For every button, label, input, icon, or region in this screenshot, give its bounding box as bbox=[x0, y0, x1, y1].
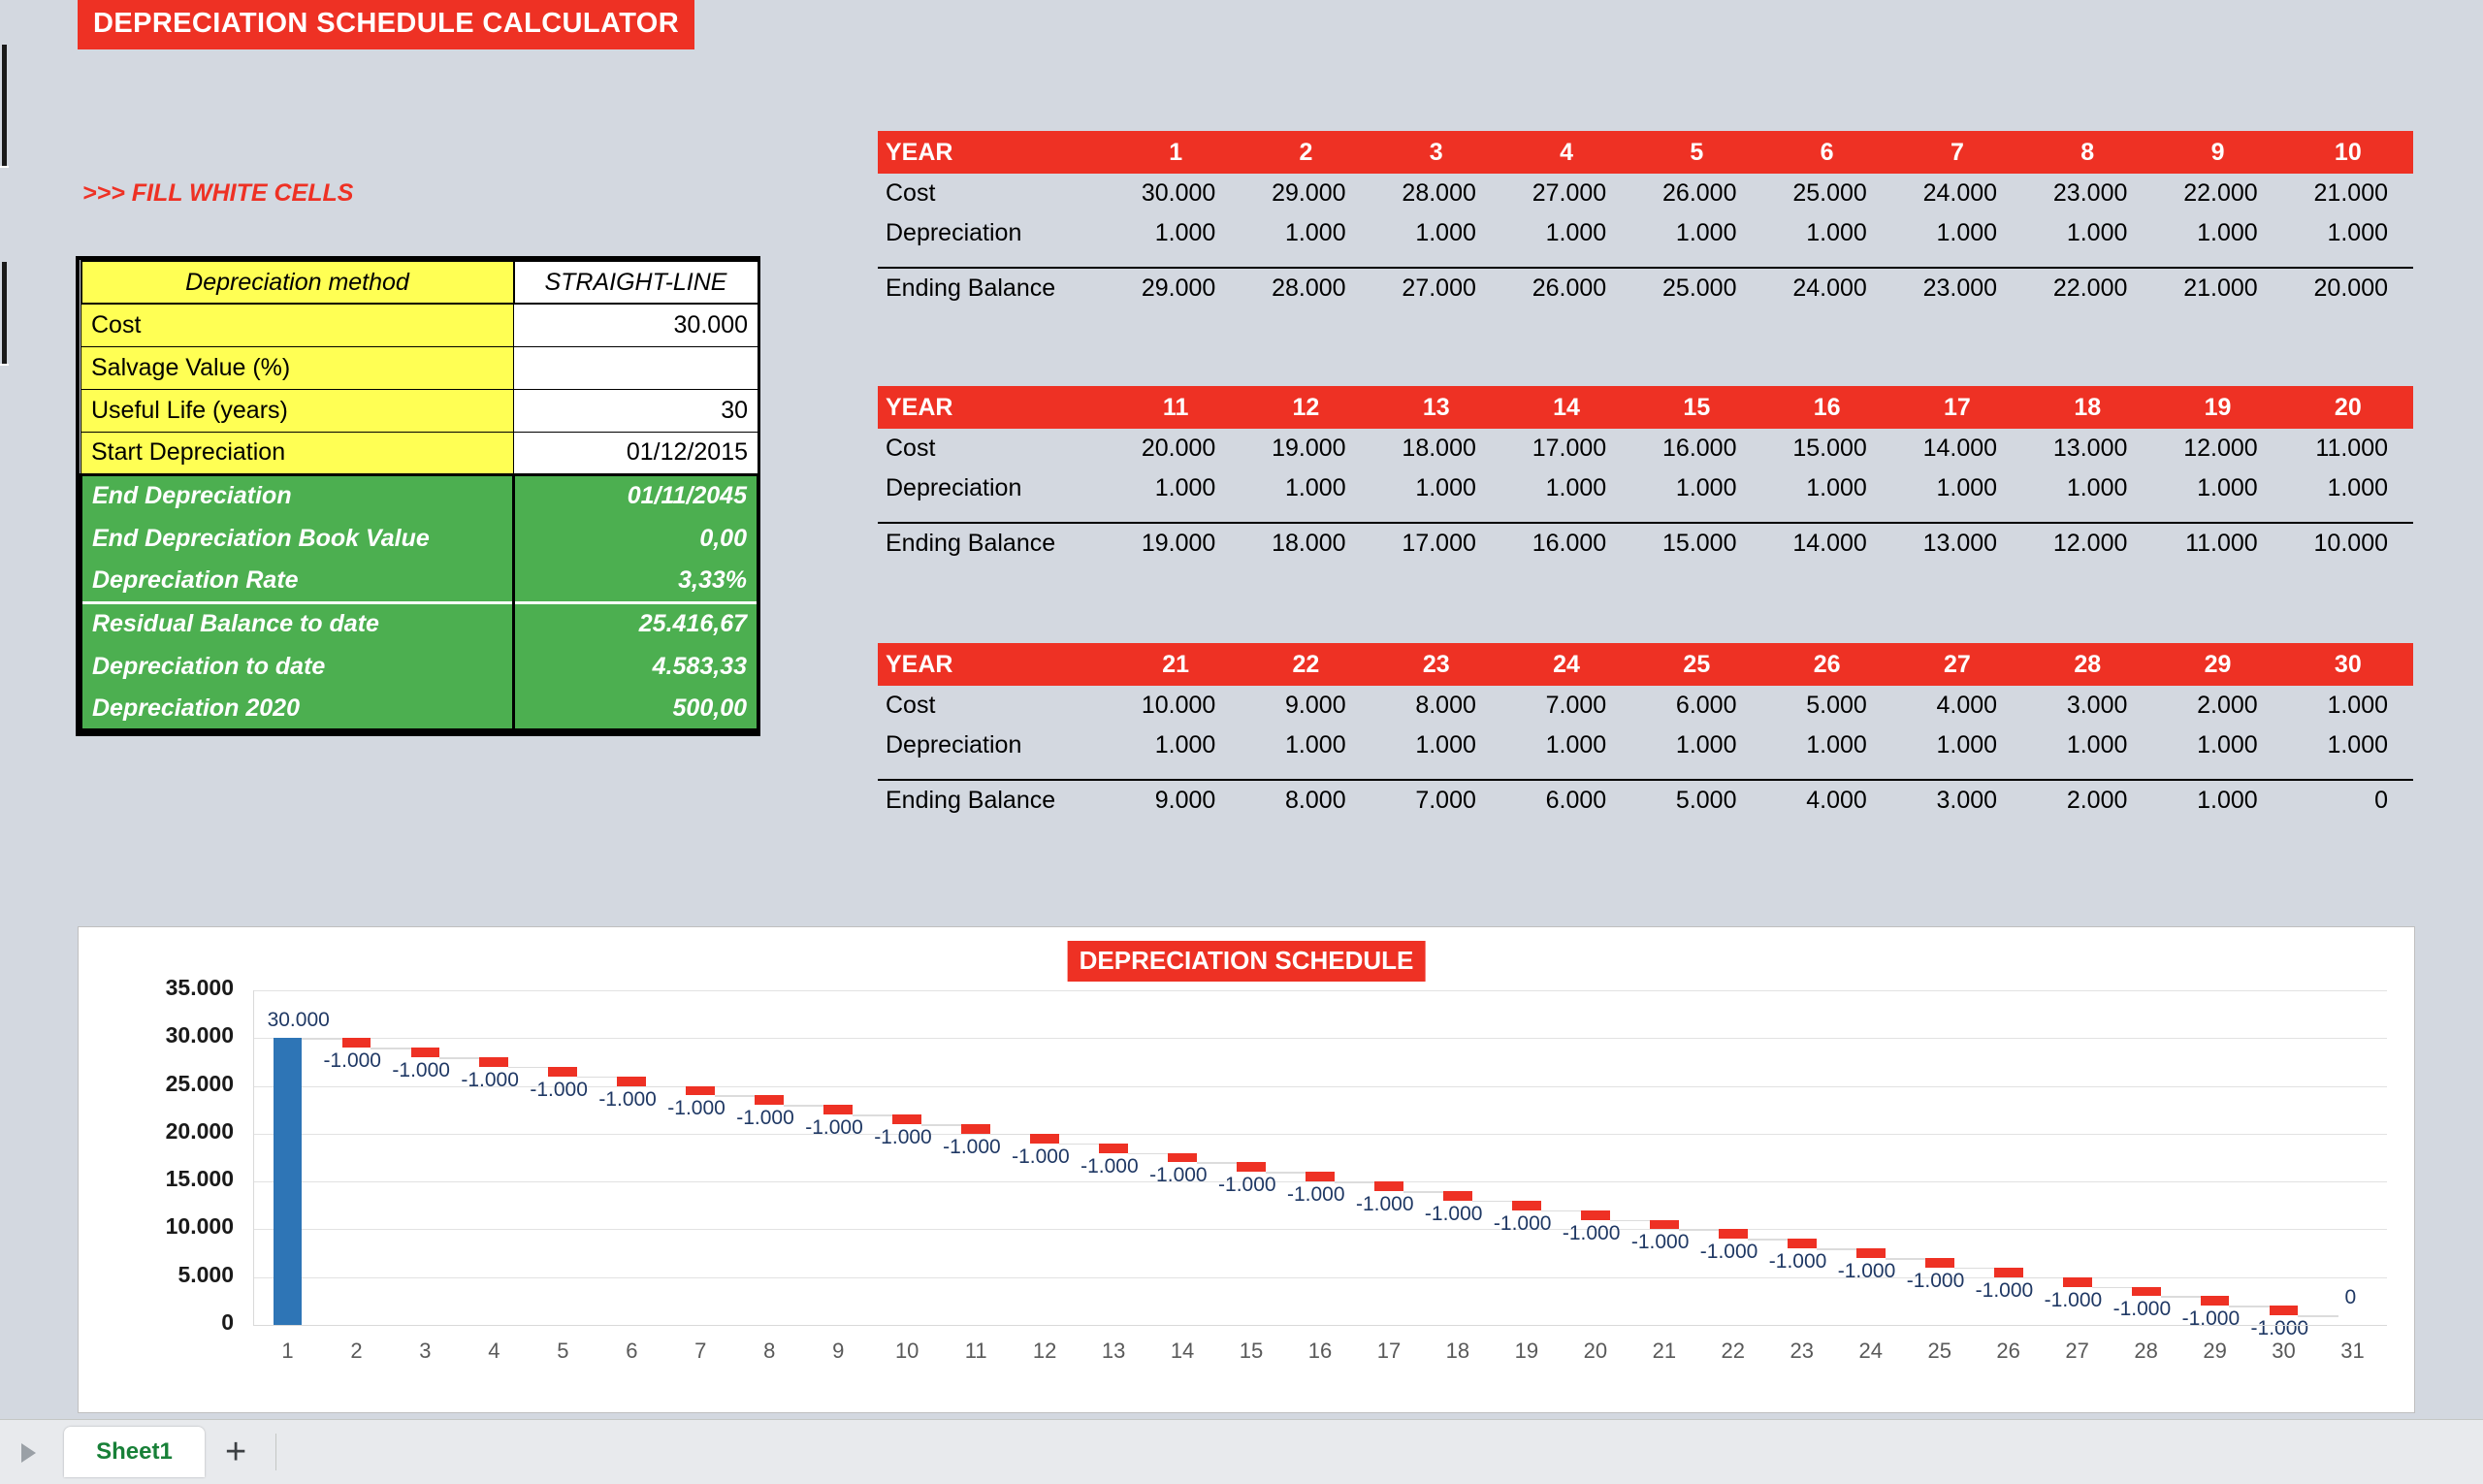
cell-ending-balance-y25: 5.000 bbox=[1631, 780, 1761, 821]
data-label-20: -1.000 bbox=[1563, 1222, 1621, 1245]
cell-depreciation-y3: 1.000 bbox=[1371, 213, 1501, 253]
schedule-header-row: YEAR12345678910 bbox=[878, 131, 2413, 174]
x-axis-tick-4: 4 bbox=[469, 1339, 518, 1364]
table-row: Cost20.00019.00018.00017.00016.00015.000… bbox=[878, 429, 2413, 468]
data-label-3: -1.000 bbox=[392, 1059, 450, 1082]
end-depreciation-book-value: 0,00 bbox=[514, 517, 758, 560]
x-axis-tick-25: 25 bbox=[1916, 1339, 1964, 1364]
cell-ending-balance-y26: 4.000 bbox=[1761, 780, 1891, 821]
waterfall-bar-decrease-23 bbox=[1788, 1239, 1817, 1248]
cell-depreciation-y15: 1.000 bbox=[1631, 468, 1761, 508]
row-label-ending-balance: Ending Balance bbox=[878, 523, 1111, 564]
row-label-depreciation: Depreciation bbox=[878, 468, 1111, 508]
cell-cost-y22: 9.000 bbox=[1241, 686, 1370, 726]
cell-depreciation-y24: 1.000 bbox=[1501, 726, 1631, 765]
data-label-11: -1.000 bbox=[943, 1136, 1001, 1159]
table-row: Depreciation1.0001.0001.0001.0001.0001.0… bbox=[878, 213, 2413, 253]
year-header-label: YEAR bbox=[878, 643, 1111, 686]
waterfall-bar-decrease-17 bbox=[1374, 1181, 1403, 1191]
cell-depreciation-y18: 1.000 bbox=[2022, 468, 2152, 508]
waterfall-bar-decrease-10 bbox=[892, 1114, 921, 1124]
cell-ending-balance-y29: 1.000 bbox=[2152, 780, 2282, 821]
waterfall-bar-decrease-6 bbox=[617, 1077, 646, 1086]
year-header-25: 25 bbox=[1631, 643, 1761, 686]
data-label-23: -1.000 bbox=[1769, 1250, 1827, 1274]
cell-cost-y9: 22.000 bbox=[2152, 174, 2282, 213]
depreciation-method-label: Depreciation method bbox=[81, 261, 514, 304]
cell-ending-balance-y23: 7.000 bbox=[1371, 780, 1501, 821]
table-row: Depreciation1.0001.0001.0001.0001.0001.0… bbox=[878, 468, 2413, 508]
cell-ending-balance-y21: 9.000 bbox=[1111, 780, 1241, 821]
waterfall-bar-decrease-8 bbox=[755, 1095, 784, 1105]
data-label-26: -1.000 bbox=[1976, 1279, 2034, 1303]
year-header-24: 24 bbox=[1501, 643, 1631, 686]
depreciation-to-date-value: 4.583,33 bbox=[514, 645, 758, 688]
depreciation-year-label: Depreciation 2020 bbox=[81, 688, 514, 730]
cell-cost-y29: 2.000 bbox=[2152, 686, 2282, 726]
cell-cost-y27: 4.000 bbox=[1892, 686, 2022, 726]
year-header-13: 13 bbox=[1371, 386, 1501, 429]
x-axis-tick-24: 24 bbox=[1847, 1339, 1895, 1364]
table-row: Start Depreciation 01/12/2015 bbox=[81, 432, 758, 474]
year-header-1: 1 bbox=[1111, 131, 1241, 174]
waterfall-bar-decrease-5 bbox=[548, 1067, 577, 1077]
year-header-10: 10 bbox=[2283, 131, 2413, 174]
sheet-tab-sheet1[interactable]: Sheet1 bbox=[64, 1427, 205, 1477]
data-label-17: -1.000 bbox=[1356, 1193, 1414, 1216]
waterfall-bar-decrease-30 bbox=[2270, 1306, 2299, 1315]
chart-plot-area: 35.00030.00025.00020.00015.00010.0005.00… bbox=[253, 990, 2387, 1325]
sheet-tab-bar: Sheet1 + bbox=[0, 1419, 2483, 1484]
cell-depreciation-y2: 1.000 bbox=[1241, 213, 1370, 253]
table-row: End Depreciation 01/11/2045 bbox=[81, 474, 758, 517]
data-label-19: -1.000 bbox=[1494, 1212, 1552, 1236]
year-header-30: 30 bbox=[2283, 643, 2413, 686]
cell-depreciation-y8: 1.000 bbox=[2022, 213, 2152, 253]
cell-ending-balance-y3: 27.000 bbox=[1371, 268, 1501, 308]
gridline bbox=[253, 990, 2387, 991]
cell-ending-balance-y28: 2.000 bbox=[2022, 780, 2152, 821]
x-axis-tick-15: 15 bbox=[1227, 1339, 1275, 1364]
cell-ending-balance-y16: 14.000 bbox=[1761, 523, 1891, 564]
table-row: Depreciation to date 4.583,33 bbox=[81, 645, 758, 688]
data-label-15: -1.000 bbox=[1218, 1174, 1276, 1197]
cell-cost-y1: 30.000 bbox=[1111, 174, 1241, 213]
spacer-row bbox=[878, 765, 2413, 780]
row-edge-rule-2 bbox=[0, 364, 9, 366]
data-label-12: -1.000 bbox=[1012, 1145, 1070, 1169]
cell-cost-y26: 5.000 bbox=[1761, 686, 1891, 726]
end-depreciation-label: End Depreciation bbox=[81, 474, 514, 517]
year-header-2: 2 bbox=[1241, 131, 1370, 174]
cell-cost-y16: 15.000 bbox=[1761, 429, 1891, 468]
cell-depreciation-y13: 1.000 bbox=[1371, 468, 1501, 508]
schedule-table-2: YEAR11121314151617181920Cost20.00019.000… bbox=[878, 386, 2413, 564]
waterfall-bar-decrease-27 bbox=[2063, 1277, 2092, 1287]
start-depreciation-label: Start Depreciation bbox=[81, 432, 514, 474]
cell-depreciation-y16: 1.000 bbox=[1761, 468, 1891, 508]
data-label-14: -1.000 bbox=[1149, 1164, 1208, 1187]
data-label-27: -1.000 bbox=[2045, 1289, 2103, 1312]
waterfall-bar-decrease-11 bbox=[961, 1124, 990, 1134]
table-row: Cost30.00029.00028.00027.00026.00025.000… bbox=[878, 174, 2413, 213]
x-axis-tick-1: 1 bbox=[263, 1339, 311, 1364]
x-axis-tick-30: 30 bbox=[2260, 1339, 2308, 1364]
cell-depreciation-y28: 1.000 bbox=[2022, 726, 2152, 765]
year-header-14: 14 bbox=[1501, 386, 1631, 429]
table-row: Depreciation1.0001.0001.0001.0001.0001.0… bbox=[878, 726, 2413, 765]
cell-cost-y2: 29.000 bbox=[1241, 174, 1370, 213]
schedule-header-row: YEAR21222324252627282930 bbox=[878, 643, 2413, 686]
year-header-20: 20 bbox=[2283, 386, 2413, 429]
y-axis-tick-label: 5.000 bbox=[117, 1262, 234, 1288]
cell-cost-y14: 17.000 bbox=[1501, 429, 1631, 468]
table-row: Ending Balance29.00028.00027.00026.00025… bbox=[878, 268, 2413, 308]
y-axis-tick-label: 35.000 bbox=[117, 975, 234, 1001]
data-label-25: -1.000 bbox=[1907, 1270, 1965, 1293]
data-label-7: -1.000 bbox=[667, 1097, 726, 1120]
play-right-icon[interactable] bbox=[21, 1443, 36, 1463]
input-header-row: Depreciation method STRAIGHT-LINE bbox=[81, 261, 758, 304]
table-row: Depreciation 2020 500,00 bbox=[81, 688, 758, 730]
waterfall-bar-decrease-7 bbox=[686, 1086, 715, 1096]
x-axis-tick-6: 6 bbox=[607, 1339, 656, 1364]
depreciation-year-value: 500,00 bbox=[514, 688, 758, 730]
cell-depreciation-y5: 1.000 bbox=[1631, 213, 1761, 253]
cell-depreciation-y19: 1.000 bbox=[2152, 468, 2282, 508]
x-axis-tick-23: 23 bbox=[1778, 1339, 1826, 1364]
gridline bbox=[253, 1181, 2387, 1182]
table-row: Residual Balance to date 25.416,67 bbox=[81, 602, 758, 645]
cell-depreciation-y27: 1.000 bbox=[1892, 726, 2022, 765]
cell-cost-y4: 27.000 bbox=[1501, 174, 1631, 213]
year-header-19: 19 bbox=[2152, 386, 2282, 429]
cell-depreciation-y29: 1.000 bbox=[2152, 726, 2282, 765]
cell-depreciation-y22: 1.000 bbox=[1241, 726, 1370, 765]
row-label-depreciation: Depreciation bbox=[878, 213, 1111, 253]
data-label-16: -1.000 bbox=[1287, 1183, 1345, 1207]
cell-cost-y24: 7.000 bbox=[1501, 686, 1631, 726]
waterfall-connector bbox=[302, 1038, 341, 1040]
year-header-7: 7 bbox=[1892, 131, 2022, 174]
data-label-4: -1.000 bbox=[461, 1069, 519, 1092]
y-axis-tick-label: 25.000 bbox=[117, 1071, 234, 1097]
y-axis-line bbox=[253, 990, 254, 1325]
cell-cost-y17: 14.000 bbox=[1892, 429, 2022, 468]
table-row: Ending Balance19.00018.00017.00016.00015… bbox=[878, 523, 2413, 564]
cell-depreciation-y21: 1.000 bbox=[1111, 726, 1241, 765]
year-header-21: 21 bbox=[1111, 643, 1241, 686]
cell-ending-balance-y1: 29.000 bbox=[1111, 268, 1241, 308]
cell-cost-y11: 20.000 bbox=[1111, 429, 1241, 468]
waterfall-bar-decrease-28 bbox=[2132, 1287, 2161, 1297]
waterfall-bar-decrease-24 bbox=[1856, 1248, 1886, 1258]
year-header-15: 15 bbox=[1631, 386, 1761, 429]
x-axis-tick-20: 20 bbox=[1571, 1339, 1620, 1364]
gridline bbox=[253, 1229, 2387, 1230]
x-axis-tick-13: 13 bbox=[1089, 1339, 1138, 1364]
table-row: Ending Balance9.0008.0007.0006.0005.0004… bbox=[878, 780, 2413, 821]
x-axis-tick-12: 12 bbox=[1020, 1339, 1069, 1364]
cell-depreciation-y12: 1.000 bbox=[1241, 468, 1370, 508]
x-axis-tick-8: 8 bbox=[745, 1339, 793, 1364]
cell-cost-y19: 12.000 bbox=[2152, 429, 2282, 468]
data-label-6: -1.000 bbox=[598, 1088, 657, 1112]
cell-cost-y25: 6.000 bbox=[1631, 686, 1761, 726]
year-header-label: YEAR bbox=[878, 131, 1111, 174]
cell-cost-y20: 11.000 bbox=[2283, 429, 2413, 468]
start-depreciation-input[interactable]: 01/12/2015 bbox=[514, 432, 758, 474]
salvage-value-input[interactable] bbox=[514, 346, 758, 389]
row-label-cost: Cost bbox=[878, 686, 1111, 726]
cell-depreciation-y20: 1.000 bbox=[2283, 468, 2413, 508]
table-row: Cost10.0009.0008.0007.0006.0005.0004.000… bbox=[878, 686, 2413, 726]
cell-ending-balance-y5: 25.000 bbox=[1631, 268, 1761, 308]
waterfall-bar-decrease-29 bbox=[2201, 1296, 2230, 1306]
data-label-10: -1.000 bbox=[874, 1126, 932, 1149]
cell-cost-y8: 23.000 bbox=[2022, 174, 2152, 213]
cell-cost-y15: 16.000 bbox=[1631, 429, 1761, 468]
cell-depreciation-y7: 1.000 bbox=[1892, 213, 2022, 253]
cell-cost-y28: 3.000 bbox=[2022, 686, 2152, 726]
cell-ending-balance-y11: 19.000 bbox=[1111, 523, 1241, 564]
cell-cost-y10: 21.000 bbox=[2283, 174, 2413, 213]
row-label-cost: Cost bbox=[878, 429, 1111, 468]
waterfall-bar-total-1 bbox=[274, 1038, 303, 1325]
row-edge-mark-mid bbox=[2, 262, 7, 364]
x-axis-tick-7: 7 bbox=[676, 1339, 725, 1364]
waterfall-bar-decrease-16 bbox=[1306, 1172, 1335, 1181]
x-axis-tick-29: 29 bbox=[2191, 1339, 2240, 1364]
chart-title: DEPRECIATION SCHEDULE bbox=[1068, 941, 1426, 982]
depreciation-rate-label: Depreciation Rate bbox=[81, 560, 514, 602]
cell-ending-balance-y19: 11.000 bbox=[2152, 523, 2282, 564]
data-label-21: -1.000 bbox=[1631, 1231, 1690, 1254]
waterfall-bar-decrease-19 bbox=[1512, 1201, 1541, 1210]
waterfall-bar-decrease-20 bbox=[1581, 1210, 1610, 1220]
cell-depreciation-y23: 1.000 bbox=[1371, 726, 1501, 765]
waterfall-bar-decrease-3 bbox=[411, 1048, 440, 1057]
useful-life-label: Useful Life (years) bbox=[81, 389, 514, 432]
waterfall-bar-decrease-2 bbox=[342, 1038, 371, 1048]
cell-ending-balance-y17: 13.000 bbox=[1892, 523, 2022, 564]
year-header-29: 29 bbox=[2152, 643, 2282, 686]
data-label-9: -1.000 bbox=[805, 1116, 863, 1140]
page-title: DEPRECIATION SCHEDULE CALCULATOR bbox=[78, 0, 694, 49]
year-header-9: 9 bbox=[2152, 131, 2282, 174]
cell-depreciation-y14: 1.000 bbox=[1501, 468, 1631, 508]
depreciation-method-select[interactable]: STRAIGHT-LINE bbox=[514, 261, 758, 304]
cell-depreciation-y1: 1.000 bbox=[1111, 213, 1241, 253]
year-header-label: YEAR bbox=[878, 386, 1111, 429]
cell-ending-balance-y24: 6.000 bbox=[1501, 780, 1631, 821]
waterfall-bar-decrease-13 bbox=[1099, 1144, 1128, 1153]
x-axis-tick-10: 10 bbox=[883, 1339, 931, 1364]
x-axis-tick-9: 9 bbox=[814, 1339, 862, 1364]
x-axis-tick-16: 16 bbox=[1296, 1339, 1344, 1364]
x-axis-tick-2: 2 bbox=[332, 1339, 380, 1364]
residual-balance-label: Residual Balance to date bbox=[81, 602, 514, 645]
cell-depreciation-y26: 1.000 bbox=[1761, 726, 1891, 765]
x-axis-tick-22: 22 bbox=[1709, 1339, 1757, 1364]
table-row: Salvage Value (%) bbox=[81, 346, 758, 389]
x-axis-tick-19: 19 bbox=[1502, 1339, 1551, 1364]
x-axis-tick-26: 26 bbox=[1984, 1339, 2033, 1364]
cell-ending-balance-y20: 10.000 bbox=[2283, 523, 2413, 564]
depreciation-to-date-label: Depreciation to date bbox=[81, 645, 514, 688]
x-axis-tick-27: 27 bbox=[2053, 1339, 2102, 1364]
schedule-table-3: YEAR21222324252627282930Cost10.0009.0008… bbox=[878, 643, 2413, 821]
data-label-29: -1.000 bbox=[2182, 1307, 2241, 1331]
year-header-3: 3 bbox=[1371, 131, 1501, 174]
cell-ending-balance-y7: 23.000 bbox=[1892, 268, 2022, 308]
table-row: End Depreciation Book Value 0,00 bbox=[81, 517, 758, 560]
cell-depreciation-y9: 1.000 bbox=[2152, 213, 2282, 253]
cell-ending-balance-y14: 16.000 bbox=[1501, 523, 1631, 564]
data-label-22: -1.000 bbox=[1700, 1241, 1758, 1264]
x-axis-tick-18: 18 bbox=[1434, 1339, 1482, 1364]
data-label-18: -1.000 bbox=[1425, 1203, 1483, 1226]
data-label-5: -1.000 bbox=[530, 1079, 588, 1102]
year-header-23: 23 bbox=[1371, 643, 1501, 686]
waterfall-bar-decrease-26 bbox=[1994, 1268, 2023, 1277]
waterfall-bar-decrease-22 bbox=[1719, 1229, 1748, 1239]
year-header-16: 16 bbox=[1761, 386, 1891, 429]
year-header-11: 11 bbox=[1111, 386, 1241, 429]
waterfall-bar-decrease-14 bbox=[1168, 1153, 1197, 1163]
y-axis-tick-label: 10.000 bbox=[117, 1213, 234, 1240]
year-header-4: 4 bbox=[1501, 131, 1631, 174]
cell-ending-balance-y4: 26.000 bbox=[1501, 268, 1631, 308]
row-edge-mark-top bbox=[2, 45, 7, 166]
cell-cost-y23: 8.000 bbox=[1371, 686, 1501, 726]
end-depreciation-value: 01/11/2045 bbox=[514, 474, 758, 517]
x-axis-tick-21: 21 bbox=[1640, 1339, 1689, 1364]
cell-depreciation-y6: 1.000 bbox=[1761, 213, 1891, 253]
cell-ending-balance-y6: 24.000 bbox=[1761, 268, 1891, 308]
depreciation-chart-card: DEPRECIATION SCHEDULE 35.00030.00025.000… bbox=[78, 926, 2415, 1413]
cell-depreciation-y11: 1.000 bbox=[1111, 468, 1241, 508]
year-header-5: 5 bbox=[1631, 131, 1761, 174]
cell-cost-y7: 24.000 bbox=[1892, 174, 2022, 213]
cost-input[interactable]: 30.000 bbox=[514, 304, 758, 346]
data-label-31: 0 bbox=[2345, 1286, 2357, 1309]
cell-depreciation-y25: 1.000 bbox=[1631, 726, 1761, 765]
gridline bbox=[253, 1134, 2387, 1135]
cost-label: Cost bbox=[81, 304, 514, 346]
row-label-depreciation: Depreciation bbox=[878, 726, 1111, 765]
cell-depreciation-y10: 1.000 bbox=[2283, 213, 2413, 253]
cell-ending-balance-y18: 12.000 bbox=[2022, 523, 2152, 564]
cell-cost-y3: 28.000 bbox=[1371, 174, 1501, 213]
schedule-table-1: YEAR12345678910Cost30.00029.00028.00027.… bbox=[878, 131, 2413, 308]
x-axis-tick-11: 11 bbox=[951, 1339, 1000, 1364]
cell-depreciation-y30: 1.000 bbox=[2283, 726, 2413, 765]
useful-life-input[interactable]: 30 bbox=[514, 389, 758, 432]
data-label-8: -1.000 bbox=[736, 1107, 794, 1130]
x-axis-tick-14: 14 bbox=[1158, 1339, 1207, 1364]
cell-ending-balance-y30: 0 bbox=[2283, 780, 2413, 821]
cell-cost-y12: 19.000 bbox=[1241, 429, 1370, 468]
waterfall-bar-decrease-15 bbox=[1237, 1162, 1266, 1172]
year-header-18: 18 bbox=[2022, 386, 2152, 429]
cell-cost-y13: 18.000 bbox=[1371, 429, 1501, 468]
year-header-26: 26 bbox=[1761, 643, 1891, 686]
cell-depreciation-y17: 1.000 bbox=[1892, 468, 2022, 508]
depreciation-input-panel: Depreciation method STRAIGHT-LINE Cost 3… bbox=[76, 256, 760, 736]
waterfall-bar-decrease-9 bbox=[823, 1105, 853, 1114]
x-axis-tick-28: 28 bbox=[2122, 1339, 2171, 1364]
row-label-ending-balance: Ending Balance bbox=[878, 780, 1111, 821]
waterfall-bar-decrease-4 bbox=[479, 1057, 508, 1067]
y-axis-tick-label: 20.000 bbox=[117, 1118, 234, 1145]
cell-ending-balance-y12: 18.000 bbox=[1241, 523, 1370, 564]
table-row: Useful Life (years) 30 bbox=[81, 389, 758, 432]
end-depreciation-book-value-label: End Depreciation Book Value bbox=[81, 517, 514, 560]
cell-ending-balance-y27: 3.000 bbox=[1892, 780, 2022, 821]
cell-ending-balance-y9: 21.000 bbox=[2152, 268, 2282, 308]
cell-cost-y18: 13.000 bbox=[2022, 429, 2152, 468]
year-header-8: 8 bbox=[2022, 131, 2152, 174]
table-row: Depreciation Rate 3,33% bbox=[81, 560, 758, 602]
data-label-28: -1.000 bbox=[2113, 1298, 2172, 1321]
data-label-2: -1.000 bbox=[323, 1049, 381, 1073]
row-label-ending-balance: Ending Balance bbox=[878, 268, 1111, 308]
y-axis-tick-label: 15.000 bbox=[117, 1166, 234, 1192]
year-header-22: 22 bbox=[1241, 643, 1370, 686]
cell-cost-y30: 1.000 bbox=[2283, 686, 2413, 726]
year-header-27: 27 bbox=[1892, 643, 2022, 686]
x-axis-tick-17: 17 bbox=[1365, 1339, 1413, 1364]
x-axis-tick-5: 5 bbox=[538, 1339, 587, 1364]
spacer-row bbox=[878, 508, 2413, 523]
x-axis-tick-3: 3 bbox=[401, 1339, 449, 1364]
year-header-12: 12 bbox=[1241, 386, 1370, 429]
year-header-6: 6 bbox=[1761, 131, 1891, 174]
gridline bbox=[253, 1038, 2387, 1039]
fill-white-cells-hint: >>> FILL WHITE CELLS bbox=[82, 179, 353, 208]
divider bbox=[275, 1434, 276, 1470]
waterfall-bar-decrease-25 bbox=[1925, 1258, 1954, 1268]
waterfall-bar-decrease-18 bbox=[1443, 1191, 1472, 1201]
year-header-28: 28 bbox=[2022, 643, 2152, 686]
data-label-1: 30.000 bbox=[268, 1009, 330, 1032]
table-row: Cost 30.000 bbox=[81, 304, 758, 346]
depreciation-rate-value: 3,33% bbox=[514, 560, 758, 602]
cell-ending-balance-y8: 22.000 bbox=[2022, 268, 2152, 308]
cell-ending-balance-y15: 15.000 bbox=[1631, 523, 1761, 564]
cell-depreciation-y4: 1.000 bbox=[1501, 213, 1631, 253]
data-label-30: -1.000 bbox=[2251, 1317, 2309, 1340]
salvage-value-label: Salvage Value (%) bbox=[81, 346, 514, 389]
data-label-24: -1.000 bbox=[1838, 1260, 1896, 1283]
cell-ending-balance-y2: 28.000 bbox=[1241, 268, 1370, 308]
cell-ending-balance-y13: 17.000 bbox=[1371, 523, 1501, 564]
waterfall-bar-decrease-12 bbox=[1030, 1134, 1059, 1144]
row-edge-rule-1 bbox=[0, 166, 9, 168]
row-label-cost: Cost bbox=[878, 174, 1111, 213]
x-axis-line bbox=[253, 1325, 2387, 1326]
waterfall-bar-decrease-21 bbox=[1650, 1220, 1679, 1230]
cell-ending-balance-y10: 20.000 bbox=[2283, 268, 2413, 308]
cell-cost-y21: 10.000 bbox=[1111, 686, 1241, 726]
data-label-13: -1.000 bbox=[1080, 1155, 1139, 1178]
residual-balance-value: 25.416,67 bbox=[514, 602, 758, 645]
y-axis-tick-label: 0 bbox=[117, 1309, 234, 1336]
x-axis-tick-31: 31 bbox=[2329, 1339, 2377, 1364]
add-sheet-button[interactable]: + bbox=[225, 1437, 246, 1467]
spacer-row bbox=[878, 253, 2413, 268]
